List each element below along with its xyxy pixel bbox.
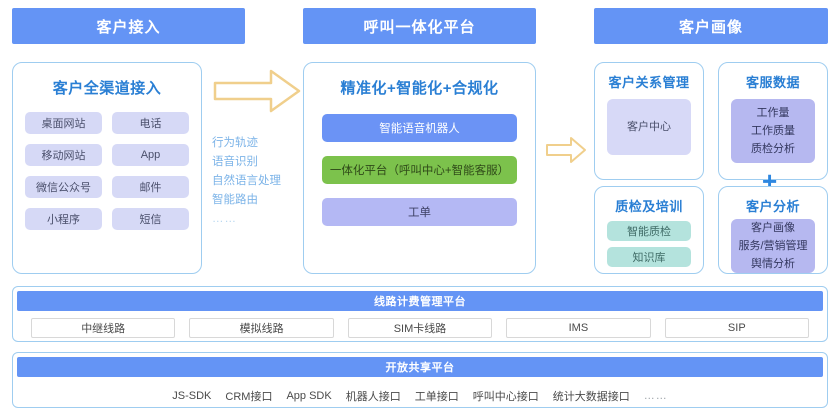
line-item-list: 中继线路 模拟线路 SIM卡线路 IMS SIP <box>17 318 823 338</box>
card-middle-title: 精准化+智能化+合规化 <box>304 77 535 98</box>
card-customer-relationship-management: 客户关系管理 客户中心 <box>594 62 704 180</box>
channel-chip[interactable]: 移动网站 <box>25 144 102 166</box>
card-customer-analysis-title: 客户分析 <box>719 196 827 215</box>
card-crm-title: 客户关系管理 <box>595 72 703 91</box>
header-call-platform: 呼叫一体化平台 <box>303 8 536 44</box>
customer-analysis-inner-box: 客户画像 服务/营销管理 舆情分析 <box>731 219 815 273</box>
open-item[interactable]: 工单接口 <box>415 388 459 404</box>
service-data-item[interactable]: 工作量 <box>757 104 790 122</box>
strip-open-sharing-platform: 开放共享平台 JS-SDK CRM接口 App SDK 机器人接口 工单接口 呼… <box>12 352 828 408</box>
open-item[interactable]: 统计大数据接口 <box>553 388 630 404</box>
crm-item[interactable]: 客户中心 <box>627 118 671 136</box>
card-integrated-platform: 精准化+智能化+合规化 智能语音机器人 一体化平台（呼叫中心+智能客服） 工单 <box>303 62 536 274</box>
open-item[interactable]: CRM接口 <box>225 388 272 404</box>
middle-keyword-list: 行为轨迹 语音识别 自然语言处理 智能路由 …… <box>212 134 298 229</box>
header-right-label: 客户画像 <box>679 16 743 37</box>
architecture-diagram: 客户接入 呼叫一体化平台 客户画像 客户全渠道接入 桌面网站 电话 移动网站 A… <box>0 0 840 420</box>
keyword-item: 智能路由 <box>212 191 298 210</box>
card-omnichannel-access: 客户全渠道接入 桌面网站 电话 移动网站 App 微信公众号 邮件 小程序 短信 <box>12 62 202 274</box>
header-middle-label: 呼叫一体化平台 <box>363 16 475 37</box>
customer-analysis-item[interactable]: 客户画像 <box>751 219 795 237</box>
channel-chip[interactable]: 电话 <box>112 112 189 134</box>
keyword-ellipsis: …… <box>212 210 298 229</box>
open-item-list: JS-SDK CRM接口 App SDK 机器人接口 工单接口 呼叫中心接口 统… <box>17 388 823 404</box>
line-platform-title: 线路计费管理平台 <box>374 293 466 309</box>
open-item[interactable]: 呼叫中心接口 <box>473 388 539 404</box>
header-customer-profile: 客户画像 <box>594 8 828 44</box>
open-item[interactable]: 机器人接口 <box>346 388 401 404</box>
open-platform-title: 开放共享平台 <box>386 359 455 375</box>
module-ticket[interactable]: 工单 <box>322 198 517 226</box>
open-item[interactable]: App SDK <box>286 390 331 402</box>
channel-chip[interactable]: 邮件 <box>112 176 189 198</box>
qa-item[interactable]: 智能质检 <box>607 221 691 241</box>
module-integrated-platform[interactable]: 一体化平台（呼叫中心+智能客服） <box>322 156 517 184</box>
service-data-item[interactable]: 工作质量 <box>751 122 795 140</box>
card-qa-training: 质检及培训 智能质检 知识库 <box>594 186 704 274</box>
keyword-item: 自然语言处理 <box>212 172 298 191</box>
customer-analysis-item[interactable]: 服务/营销管理 <box>738 237 807 255</box>
qa-item[interactable]: 知识库 <box>607 247 691 267</box>
line-item[interactable]: 模拟线路 <box>189 318 333 338</box>
crm-inner-box: 客户中心 <box>607 99 691 155</box>
service-data-inner-box: 工作量 工作质量 质检分析 <box>731 99 815 163</box>
line-item[interactable]: 中继线路 <box>31 318 175 338</box>
open-item[interactable]: JS-SDK <box>172 390 211 402</box>
card-service-data: 客服数据 工作量 工作质量 质检分析 <box>718 62 828 180</box>
qa-item-list: 智能质检 知识库 <box>607 221 691 267</box>
card-left-title: 客户全渠道接入 <box>13 77 201 98</box>
line-item[interactable]: SIM卡线路 <box>348 318 492 338</box>
card-customer-analysis: 客户分析 客户画像 服务/营销管理 舆情分析 <box>718 186 828 274</box>
channel-chip[interactable]: App <box>112 144 189 166</box>
keyword-item: 语音识别 <box>212 153 298 172</box>
strip-line-billing-platform: 线路计费管理平台 中继线路 模拟线路 SIM卡线路 IMS SIP <box>12 286 828 342</box>
channel-chip-grid: 桌面网站 电话 移动网站 App 微信公众号 邮件 小程序 短信 <box>25 112 189 230</box>
channel-chip[interactable]: 短信 <box>112 208 189 230</box>
channel-chip[interactable]: 桌面网站 <box>25 112 102 134</box>
customer-analysis-item[interactable]: 舆情分析 <box>751 255 795 273</box>
header-customer-access: 客户接入 <box>12 8 245 44</box>
open-item-ellipsis: …… <box>644 390 668 402</box>
arrow-right-icon <box>213 68 301 119</box>
platform-module-list: 智能语音机器人 一体化平台（呼叫中心+智能客服） 工单 <box>322 114 517 226</box>
module-voice-robot[interactable]: 智能语音机器人 <box>322 114 517 142</box>
channel-chip[interactable]: 小程序 <box>25 208 102 230</box>
keyword-item: 行为轨迹 <box>212 134 298 153</box>
card-qa-title: 质检及培训 <box>595 196 703 215</box>
channel-chip[interactable]: 微信公众号 <box>25 176 102 198</box>
arrow-right-icon <box>545 136 587 169</box>
service-data-item[interactable]: 质检分析 <box>751 140 795 158</box>
open-platform-bar: 开放共享平台 <box>17 357 823 377</box>
line-item[interactable]: SIP <box>665 318 809 338</box>
line-item[interactable]: IMS <box>506 318 650 338</box>
line-platform-bar: 线路计费管理平台 <box>17 291 823 311</box>
header-left-label: 客户接入 <box>96 16 160 37</box>
card-service-data-title: 客服数据 <box>719 72 827 91</box>
